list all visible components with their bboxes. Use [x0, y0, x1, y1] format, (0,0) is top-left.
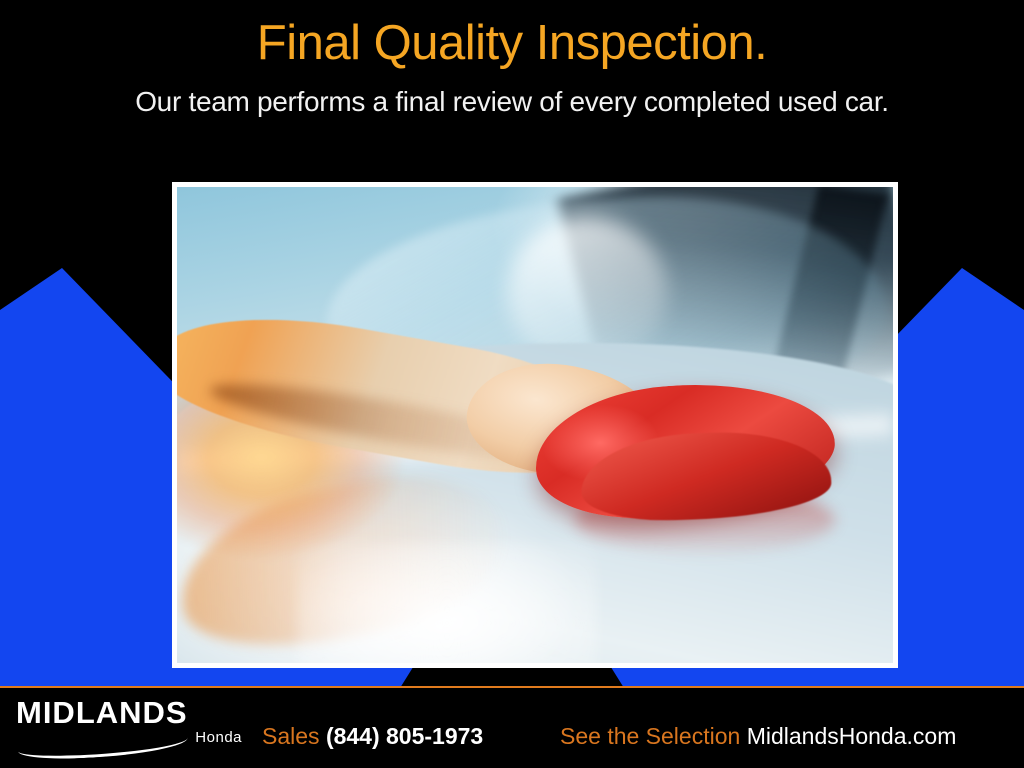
hero-photo — [177, 187, 893, 663]
website-url[interactable]: MidlandsHonda.com — [747, 723, 957, 749]
page-title: Final Quality Inspection. — [0, 14, 1024, 72]
footer-bar: MIDLANDS Honda Sales (844) 805-1973 See … — [0, 686, 1024, 768]
photo-bottom-glow — [297, 543, 597, 663]
sales-label: Sales — [262, 723, 320, 749]
dealer-logo[interactable]: MIDLANDS Honda — [16, 696, 246, 760]
sales-phone-number[interactable]: (844) 805-1973 — [326, 723, 483, 749]
selection-link-group[interactable]: See the Selection MidlandsHonda.com — [560, 722, 956, 750]
hero-photo-frame — [172, 182, 898, 668]
promo-banner: Final Quality Inspection. Our team perfo… — [0, 0, 1024, 768]
dealer-logo-wordmark: MIDLANDS — [16, 696, 246, 730]
see-the-selection-label: See the Selection — [560, 723, 740, 749]
sales-phone-group[interactable]: Sales (844) 805-1973 — [262, 722, 483, 750]
page-subtitle: Our team performs a final review of ever… — [0, 84, 1024, 120]
